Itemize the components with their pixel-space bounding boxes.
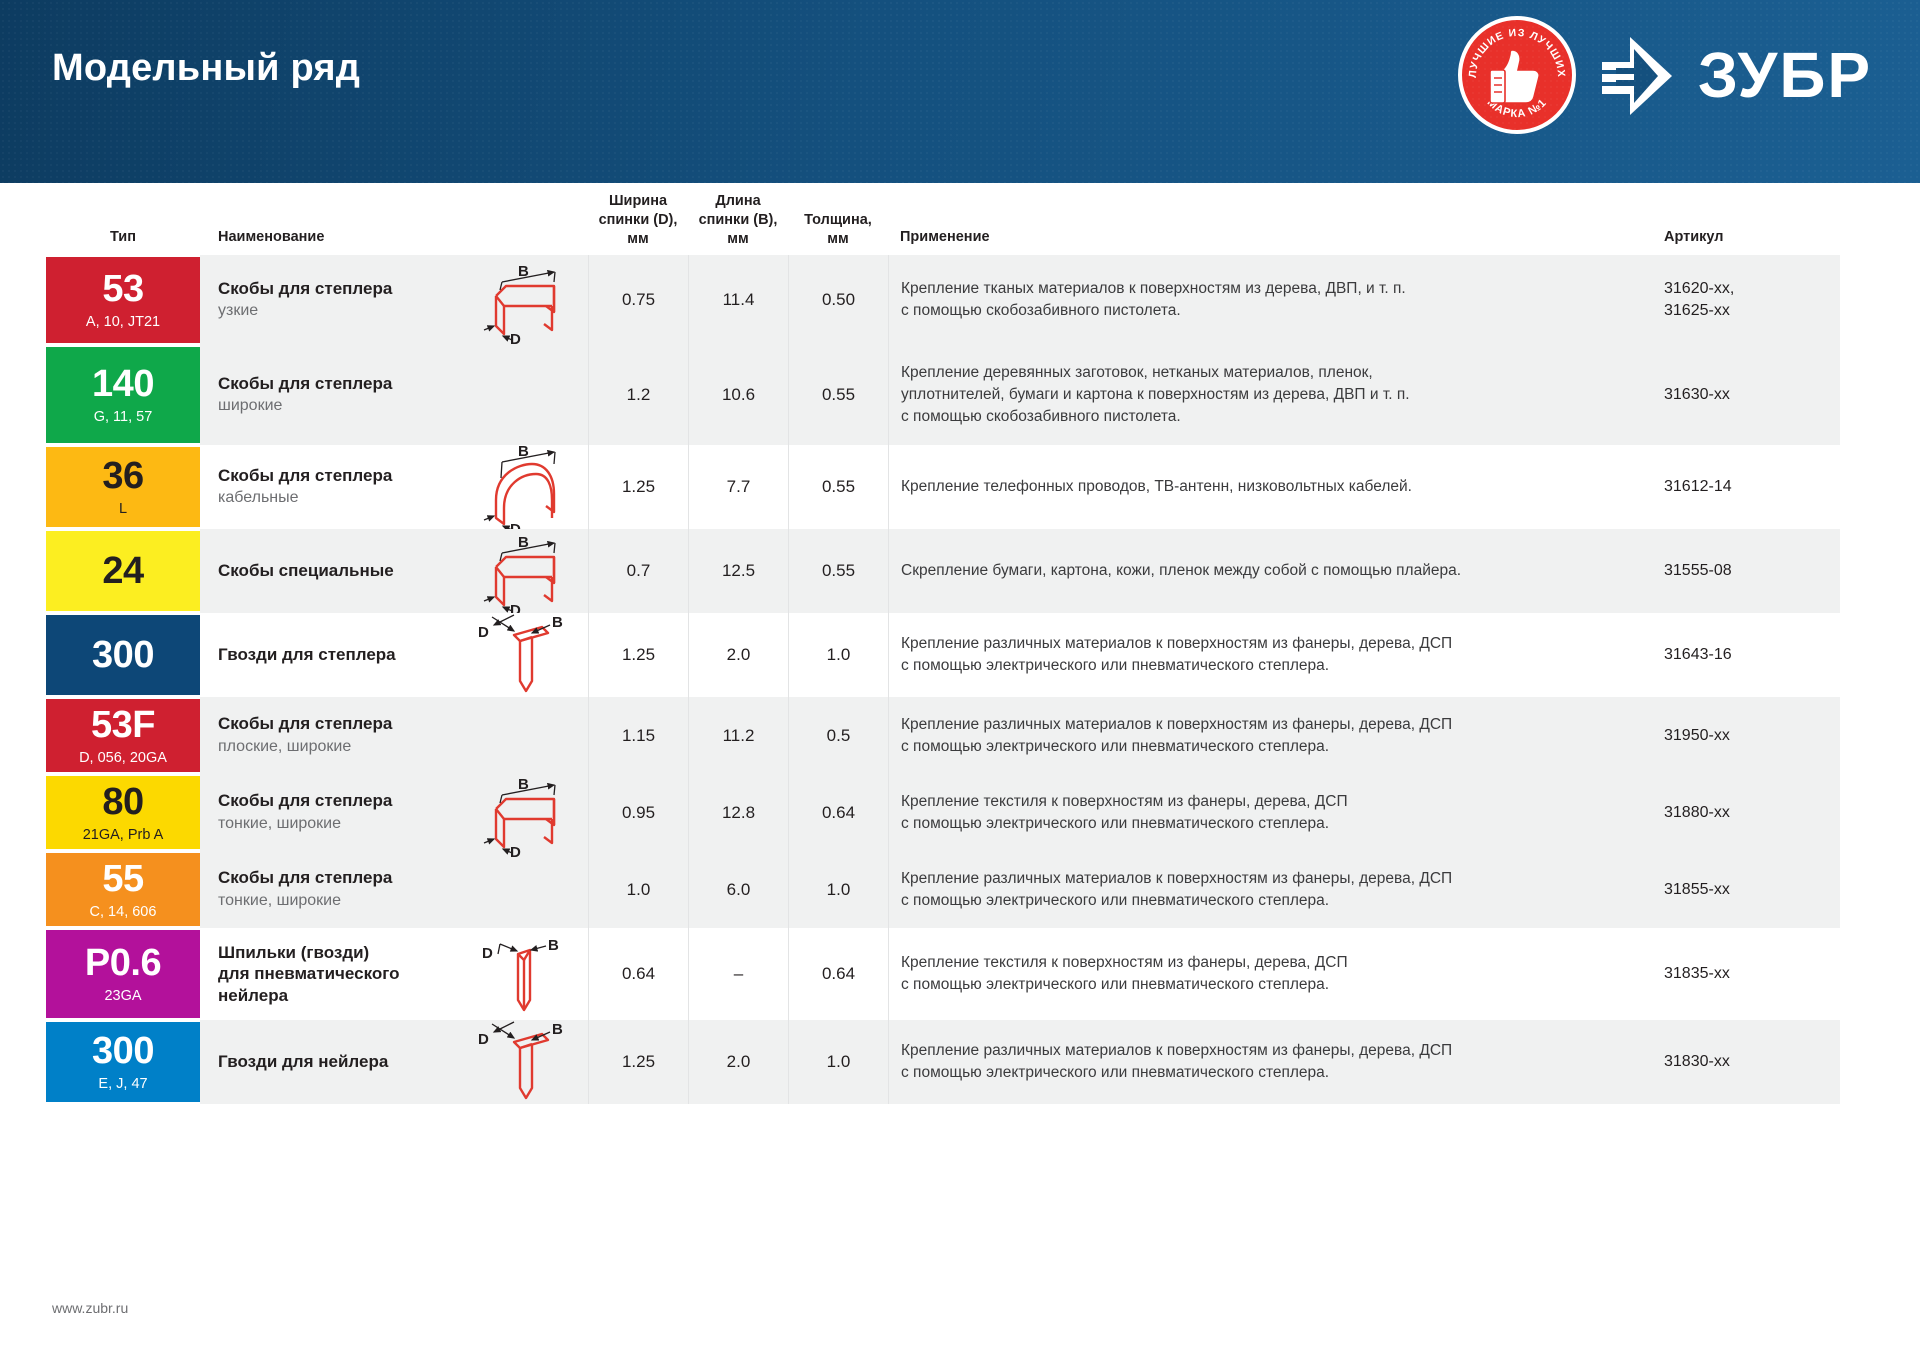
article-line-1: 31620-хх, bbox=[1664, 278, 1832, 300]
staple-flat-small-diagram-icon: BD bbox=[470, 521, 580, 621]
application-line-1: Крепление текстиля к поверхностям из фан… bbox=[901, 952, 1636, 974]
application-line-2: с помощью электрического или пневматичес… bbox=[901, 974, 1636, 996]
table-row[interactable]: 300Гвозди для степлера BD1.252.01.0Крепл… bbox=[46, 613, 1874, 697]
product-name: Шпильки (гвозди) bbox=[218, 942, 452, 963]
name-cell: Скобы для степлераплоские, широкие bbox=[200, 697, 462, 774]
thickness-value: 0.55 bbox=[788, 529, 888, 613]
type-badge-number: 24 bbox=[102, 552, 143, 590]
type-cell: 24 bbox=[46, 529, 200, 613]
type-badge: 53FD, 056, 20GA bbox=[46, 699, 200, 772]
col-header-article: Артикул bbox=[1650, 228, 1840, 249]
application-line-1: Крепление различных материалов к поверхн… bbox=[901, 1040, 1636, 1062]
thickness-value: 0.64 bbox=[788, 774, 888, 851]
application-line-1: Крепление различных материалов к поверхн… bbox=[901, 633, 1636, 655]
type-badge-subtitle: C, 14, 606 bbox=[90, 905, 157, 920]
type-badge: 8021GA, Prb A bbox=[46, 776, 200, 849]
staple-flat-diagram-icon: BD bbox=[470, 250, 580, 350]
width-value: 0.64 bbox=[588, 928, 688, 1020]
article-line-1: 31950-хх bbox=[1664, 725, 1832, 747]
thickness-value: 0.55 bbox=[788, 445, 888, 529]
type-badge-number: 53 bbox=[102, 270, 143, 308]
article-line-1: 31555-08 bbox=[1664, 560, 1832, 582]
product-name: Гвозди для степлера bbox=[218, 644, 452, 665]
application-line-1: Крепление тканых материалов к поверхност… bbox=[901, 278, 1636, 300]
shape-diagram-cell: BD bbox=[462, 255, 588, 345]
width-value: 1.0 bbox=[588, 851, 688, 928]
application-line-1: Крепление различных материалов к поверхн… bbox=[901, 868, 1636, 890]
type-badge: 55C, 14, 606 bbox=[46, 853, 200, 926]
nail-diagram-icon: BD bbox=[470, 607, 580, 703]
product-name: Скобы для степлера bbox=[218, 867, 452, 888]
nail2-diagram-icon: BD bbox=[470, 1014, 580, 1110]
col-header-application: Применение bbox=[888, 228, 1650, 249]
type-badge-number: 36 bbox=[102, 457, 143, 495]
svg-text:B: B bbox=[518, 776, 529, 793]
application-cell: Скрепление бумаги, картона, кожи, пленок… bbox=[888, 529, 1650, 613]
application-cell: Крепление тканых материалов к поверхност… bbox=[888, 255, 1650, 345]
product-subtitle: плоские, широкие bbox=[218, 737, 452, 758]
col-header-length-line1: Длина bbox=[688, 192, 788, 211]
svg-text:B: B bbox=[548, 937, 559, 954]
length-value: 11.4 bbox=[688, 255, 788, 345]
name-cell: Скобы для степлераузкие bbox=[200, 255, 462, 345]
length-value: 2.0 bbox=[688, 1020, 788, 1104]
type-badge-subtitle: L bbox=[119, 502, 127, 517]
col-header-width-line2: спинки (D), мм bbox=[588, 211, 688, 249]
thickness-value: 1.0 bbox=[788, 1020, 888, 1104]
application-cell: Крепление различных материалов к поверхн… bbox=[888, 1020, 1650, 1104]
article-cell: 31612-14 bbox=[1650, 445, 1840, 529]
application-line-2: уплотнителей, бумаги и картона к поверхн… bbox=[901, 384, 1636, 406]
article-line-1: 31830-хх bbox=[1664, 1051, 1832, 1073]
col-header-width: Ширина спинки (D), мм bbox=[588, 192, 688, 249]
table-body: 53A, 10, JT21Скобы для степлераузкие BD0… bbox=[46, 255, 1874, 1104]
name-cell: Скобы для степлератонкие, широкие bbox=[200, 774, 462, 851]
col-header-thickness-line1: Толщина, bbox=[788, 211, 888, 230]
length-value: 12.8 bbox=[688, 774, 788, 851]
models-table: Тип Наименование Ширина спинки (D), мм Д… bbox=[46, 183, 1874, 1104]
svg-text:B: B bbox=[552, 614, 563, 631]
application-cell: Крепление текстиля к поверхностям из фан… bbox=[888, 774, 1650, 851]
article-cell: 31555-08 bbox=[1650, 529, 1840, 613]
table-row[interactable]: 36LСкобы для степлеракабельные BD1.257.7… bbox=[46, 445, 1874, 529]
article-line-2: 31625-хх bbox=[1664, 300, 1832, 322]
article-line-1: 31612-14 bbox=[1664, 476, 1832, 498]
article-line-1: 31630-хх bbox=[1664, 384, 1832, 406]
type-badge-number: P0.6 bbox=[85, 944, 161, 982]
name-cell: Гвозди для степлера bbox=[200, 613, 462, 697]
name-cell: Скобы для степлераширокие bbox=[200, 345, 462, 445]
length-value: 2.0 bbox=[688, 613, 788, 697]
product-subtitle: узкие bbox=[218, 301, 452, 322]
medal-svg: ЛУЧШИЕ ИЗ ЛУЧШИХ МАРКА №1 bbox=[1462, 20, 1572, 130]
application-line-1: Крепление деревянных заготовок, нетканых… bbox=[901, 362, 1636, 384]
name-cell: Скобы специальные bbox=[200, 529, 462, 613]
application-line-1: Скрепление бумаги, картона, кожи, пленок… bbox=[901, 560, 1636, 582]
shape-diagram-cell: BD bbox=[462, 613, 588, 697]
zubr-arrow-icon bbox=[1600, 35, 1674, 115]
svg-text:D: D bbox=[482, 945, 493, 962]
type-badge-subtitle: 21GA, Prb A bbox=[83, 828, 164, 843]
svg-text:D: D bbox=[510, 844, 521, 861]
product-name-line3: нейлера bbox=[218, 985, 452, 1006]
type-cell: 53A, 10, JT21 bbox=[46, 255, 200, 345]
application-cell: Крепление деревянных заготовок, нетканых… bbox=[888, 345, 1650, 445]
table-row[interactable]: 24Скобы специальные BD0.712.50.55Скрепле… bbox=[46, 529, 1874, 613]
type-badge: 53A, 10, JT21 bbox=[46, 257, 200, 343]
width-value: 0.7 bbox=[588, 529, 688, 613]
width-value: 0.75 bbox=[588, 255, 688, 345]
length-value: 7.7 bbox=[688, 445, 788, 529]
arrow-svg bbox=[1600, 35, 1674, 117]
type-badge-subtitle: 23GA bbox=[104, 989, 141, 1004]
svg-text:B: B bbox=[518, 263, 529, 280]
type-cell: P0.623GA bbox=[46, 928, 200, 1020]
product-name: Скобы для степлера bbox=[218, 790, 452, 811]
width-value: 1.25 bbox=[588, 613, 688, 697]
best-of-best-medal-icon: ЛУЧШИЕ ИЗ ЛУЧШИХ МАРКА №1 bbox=[1458, 16, 1576, 134]
type-badge: 140G, 11, 57 bbox=[46, 347, 200, 443]
type-cell: 300 bbox=[46, 613, 200, 697]
type-cell: 36L bbox=[46, 445, 200, 529]
table-header-row: Тип Наименование Ширина спинки (D), мм Д… bbox=[46, 183, 1874, 255]
width-value: 0.95 bbox=[588, 774, 688, 851]
product-subtitle: широкие bbox=[218, 396, 452, 417]
type-badge: P0.623GA bbox=[46, 930, 200, 1018]
product-name-line2: для пневматического bbox=[218, 963, 452, 984]
table-row[interactable]: 140G, 11, 57Скобы для степлераширокие1.2… bbox=[46, 345, 1874, 445]
brand-logo: ЛУЧШИЕ ИЗ ЛУЧШИХ МАРКА №1 bbox=[1458, 16, 1872, 134]
product-name: Гвозди для нейлера bbox=[218, 1051, 452, 1072]
application-line-3: с помощью скобозабивного пистолета. bbox=[901, 406, 1636, 428]
application-cell: Крепление текстиля к поверхностям из фан… bbox=[888, 928, 1650, 1020]
col-header-name: Наименование bbox=[200, 228, 462, 249]
catalog-page: Модельный ряд ЛУЧШИЕ ИЗ ЛУЧШИХ МАРКА №1 bbox=[0, 0, 1920, 1357]
shape-diagram-cell: BD bbox=[462, 774, 588, 851]
length-value: 10.6 bbox=[688, 345, 788, 445]
application-cell: Крепление различных материалов к поверхн… bbox=[888, 613, 1650, 697]
table-row[interactable]: 8021GA, Prb AСкобы для степлератонкие, ш… bbox=[46, 774, 1874, 851]
svg-text:D: D bbox=[510, 331, 521, 348]
svg-text:МАРКА №1: МАРКА №1 bbox=[1484, 96, 1549, 120]
type-cell: 53FD, 056, 20GA bbox=[46, 697, 200, 774]
page-header: Модельный ряд ЛУЧШИЕ ИЗ ЛУЧШИХ МАРКА №1 bbox=[0, 0, 1920, 183]
type-badge-subtitle: G, 11, 57 bbox=[94, 410, 153, 425]
table-row[interactable]: P0.623GAШпильки (гвозди)для пневматическ… bbox=[46, 928, 1874, 1020]
application-line-1: Крепление текстиля к поверхностям из фан… bbox=[901, 791, 1636, 813]
thickness-value: 0.5 bbox=[788, 697, 888, 774]
thickness-value: 1.0 bbox=[788, 851, 888, 928]
product-subtitle: тонкие, широкие bbox=[218, 814, 452, 835]
length-value: – bbox=[688, 928, 788, 1020]
pin-diagram-icon: BD bbox=[470, 928, 580, 1020]
col-header-thickness: Толщина, мм bbox=[788, 211, 888, 249]
page-title: Модельный ряд bbox=[52, 47, 360, 90]
width-value: 1.25 bbox=[588, 445, 688, 529]
article-cell: 31950-хх bbox=[1650, 697, 1840, 774]
application-line-2: с помощью электрического или пневматичес… bbox=[901, 655, 1636, 677]
shape-diagram-cell: BD bbox=[462, 445, 588, 529]
svg-text:B: B bbox=[552, 1021, 563, 1038]
article-line-1: 31880-хх bbox=[1664, 802, 1832, 824]
application-line-1: Крепление телефонных проводов, ТВ-антенн… bbox=[901, 476, 1636, 498]
application-cell: Крепление различных материалов к поверхн… bbox=[888, 851, 1650, 928]
width-value: 1.2 bbox=[588, 345, 688, 445]
shape-diagram-cell: BD bbox=[462, 1020, 588, 1104]
type-badge-subtitle: E, J, 47 bbox=[98, 1077, 147, 1092]
application-cell: Крепление телефонных проводов, ТВ-антенн… bbox=[888, 445, 1650, 529]
article-cell: 31830-хх bbox=[1650, 1020, 1840, 1104]
product-name: Скобы специальные bbox=[218, 560, 452, 581]
type-cell: 8021GA, Prb A bbox=[46, 774, 200, 851]
length-value: 12.5 bbox=[688, 529, 788, 613]
article-cell: 31835-хх bbox=[1650, 928, 1840, 1020]
application-line-2: с помощью скобозабивного пистолета. bbox=[901, 300, 1636, 322]
svg-text:D: D bbox=[478, 1031, 489, 1048]
product-name: Скобы для степлера bbox=[218, 373, 452, 394]
product-subtitle: тонкие, широкие bbox=[218, 891, 452, 912]
col-header-type: Тип bbox=[46, 228, 200, 249]
col-header-length: Длина спинки (B), мм bbox=[688, 192, 788, 249]
article-line-1: 31643-16 bbox=[1664, 644, 1832, 666]
type-badge: 300 bbox=[46, 615, 200, 695]
article-cell: 31880-хх bbox=[1650, 774, 1840, 851]
shape-diagram-cell bbox=[462, 345, 588, 445]
article-cell: 31855-хх bbox=[1650, 851, 1840, 928]
product-name: Скобы для степлера bbox=[218, 278, 452, 299]
article-cell: 31620-хх,31625-хх bbox=[1650, 255, 1840, 345]
length-value: 11.2 bbox=[688, 697, 788, 774]
type-cell: 300E, J, 47 bbox=[46, 1020, 200, 1104]
type-cell: 140G, 11, 57 bbox=[46, 345, 200, 445]
svg-text:B: B bbox=[518, 534, 529, 551]
article-cell: 31643-16 bbox=[1650, 613, 1840, 697]
table-row[interactable]: 53A, 10, JT21Скобы для степлераузкие BD0… bbox=[46, 255, 1874, 345]
width-value: 1.15 bbox=[588, 697, 688, 774]
application-cell: Крепление различных материалов к поверхн… bbox=[888, 697, 1650, 774]
table-row[interactable]: 300E, J, 47Гвозди для нейлера BD1.252.01… bbox=[46, 1020, 1874, 1104]
type-badge: 36L bbox=[46, 447, 200, 527]
type-badge: 300E, J, 47 bbox=[46, 1022, 200, 1102]
product-subtitle: кабельные bbox=[218, 488, 452, 509]
type-badge-number: 53F bbox=[91, 706, 155, 744]
shape-diagram-cell: BD bbox=[462, 928, 588, 1020]
application-line-1: Крепление различных материалов к поверхн… bbox=[901, 714, 1636, 736]
brand-wordmark: ЗУБР bbox=[1698, 43, 1872, 107]
type-badge-subtitle: A, 10, JT21 bbox=[86, 315, 160, 330]
col-header-length-line2: спинки (B), мм bbox=[688, 211, 788, 249]
article-cell: 31630-хх bbox=[1650, 345, 1840, 445]
application-line-2: с помощью электрического или пневматичес… bbox=[901, 1062, 1636, 1084]
width-value: 1.25 bbox=[588, 1020, 688, 1104]
application-line-2: с помощью электрического или пневматичес… bbox=[901, 813, 1636, 835]
table-row[interactable]: 55C, 14, 606Скобы для степлератонкие, ши… bbox=[46, 851, 1874, 928]
type-badge-number: 300 bbox=[92, 636, 154, 674]
thickness-value: 0.55 bbox=[788, 345, 888, 445]
footer-url: www.zubr.ru bbox=[52, 1300, 128, 1316]
article-line-1: 31835-хх bbox=[1664, 963, 1832, 985]
type-badge-number: 140 bbox=[92, 365, 154, 403]
col-header-width-line1: Ширина bbox=[588, 192, 688, 211]
name-cell: Гвозди для нейлера bbox=[200, 1020, 462, 1104]
name-cell: Скобы для степлератонкие, широкие bbox=[200, 851, 462, 928]
name-cell: Шпильки (гвозди)для пневматическогонейле… bbox=[200, 928, 462, 1020]
thickness-value: 0.50 bbox=[788, 255, 888, 345]
product-name: Скобы для степлера bbox=[218, 713, 452, 734]
svg-text:ЛУЧШИЕ ИЗ ЛУЧШИХ: ЛУЧШИЕ ИЗ ЛУЧШИХ bbox=[1467, 27, 1567, 78]
thickness-value: 0.64 bbox=[788, 928, 888, 1020]
table-row[interactable]: 53FD, 056, 20GAСкобы для степлераплоские… bbox=[46, 697, 1874, 774]
type-badge-number: 80 bbox=[102, 783, 143, 821]
type-cell: 55C, 14, 606 bbox=[46, 851, 200, 928]
type-badge-number: 55 bbox=[102, 860, 143, 898]
col-header-thickness-line2: мм bbox=[788, 230, 888, 249]
thickness-value: 1.0 bbox=[788, 613, 888, 697]
length-value: 6.0 bbox=[688, 851, 788, 928]
svg-text:B: B bbox=[518, 443, 529, 460]
application-line-2: с помощью электрического или пневматичес… bbox=[901, 890, 1636, 912]
product-name: Скобы для степлера bbox=[218, 465, 452, 486]
shape-diagram-cell: BD bbox=[462, 529, 588, 613]
name-cell: Скобы для степлеракабельные bbox=[200, 445, 462, 529]
shape-diagram-cell bbox=[462, 851, 588, 928]
article-line-1: 31855-хх bbox=[1664, 879, 1832, 901]
application-line-2: с помощью электрического или пневматичес… bbox=[901, 736, 1636, 758]
type-badge-number: 300 bbox=[92, 1032, 154, 1070]
type-badge: 24 bbox=[46, 531, 200, 611]
type-badge-subtitle: D, 056, 20GA bbox=[79, 751, 167, 766]
staple-flat-wide-diagram-icon: BD bbox=[470, 763, 580, 863]
svg-text:D: D bbox=[478, 624, 489, 641]
